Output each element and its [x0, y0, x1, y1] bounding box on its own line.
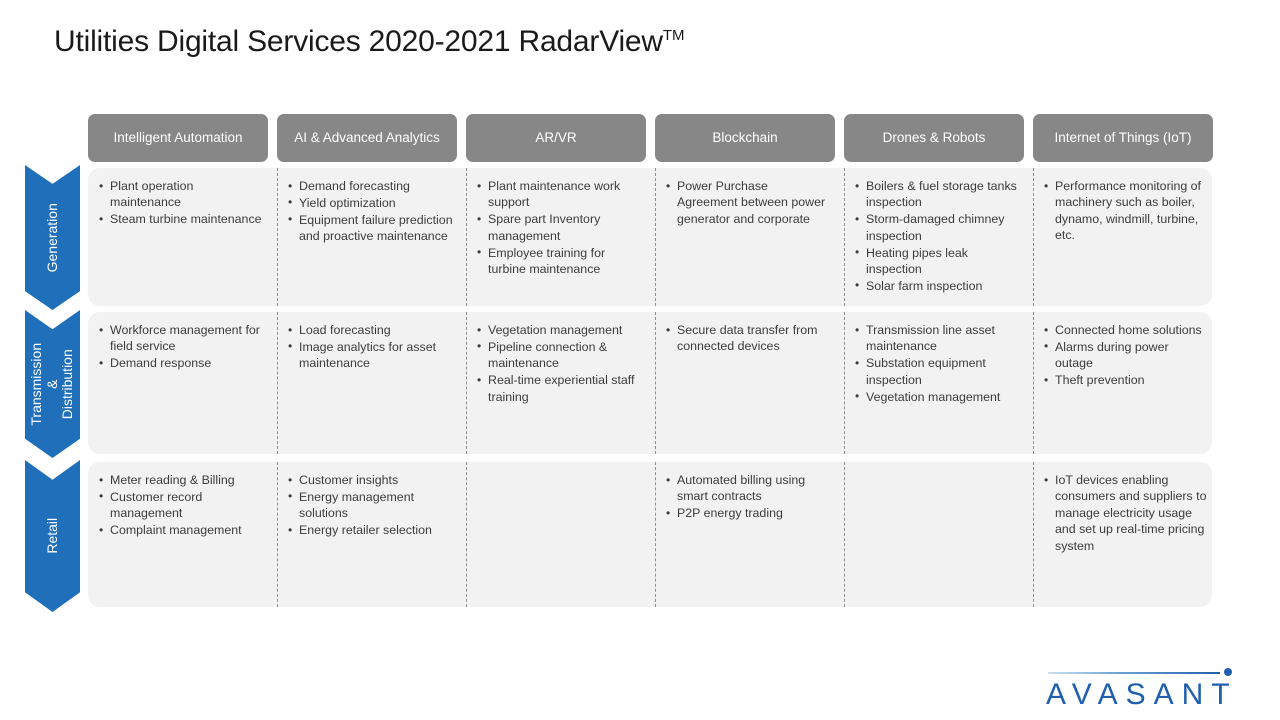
- bullet-list: Workforce management for field serviceDe…: [96, 322, 264, 372]
- logo-line-icon: [1048, 672, 1220, 674]
- list-item: Theft prevention: [1055, 372, 1209, 388]
- list-item: Energy management solutions: [299, 489, 453, 522]
- list-item: Employee training for turbine maintenanc…: [488, 245, 642, 278]
- list-item: P2P energy trading: [677, 505, 831, 521]
- column-header-label: AI & Advanced Analytics: [294, 130, 440, 147]
- list-item: Customer record management: [110, 489, 264, 522]
- list-item: Real-time experiential staff training: [488, 372, 642, 405]
- matrix-cell-r1-c3[interactable]: Plant maintenance work supportSpare part…: [466, 168, 646, 306]
- column-header-label: Drones & Robots: [883, 130, 986, 147]
- column-header-label: Internet of Things (IoT): [1054, 130, 1191, 147]
- list-item: Spare part Inventory management: [488, 211, 642, 244]
- list-item: Yield optimization: [299, 195, 453, 211]
- list-item: Transmission line asset maintenance: [866, 322, 1020, 355]
- row-arrow-label: Generation: [45, 203, 61, 272]
- matrix-cell-r3-c4[interactable]: Automated billing using smart contractsP…: [655, 462, 835, 607]
- matrix-cell-r1-c5[interactable]: Boilers & fuel storage tanks inspectionS…: [844, 168, 1024, 306]
- bullet-list: IoT devices enabling consumers and suppl…: [1041, 472, 1209, 554]
- bullet-list: Performance monitoring of machinery such…: [1041, 178, 1209, 244]
- row-arrow-label: Transmission & Distribution: [29, 343, 76, 426]
- matrix-cell-r1-c4[interactable]: Power Purchase Agreement between power g…: [655, 168, 835, 306]
- list-item: Pipeline connection & maintenance: [488, 339, 642, 372]
- row-panel-3: Meter reading & BillingCustomer record m…: [88, 462, 1212, 607]
- matrix-cell-r2-c4[interactable]: Secure data transfer from connected devi…: [655, 312, 835, 454]
- list-item: Complaint management: [110, 522, 264, 538]
- list-item: Workforce management for field service: [110, 322, 264, 355]
- matrix-cell-r3-c6[interactable]: IoT devices enabling consumers and suppl…: [1033, 462, 1213, 607]
- list-item: Solar farm inspection: [866, 278, 1020, 294]
- list-item: Demand forecasting: [299, 178, 453, 194]
- matrix-cell-r2-c3[interactable]: Vegetation managementPipeline connection…: [466, 312, 646, 454]
- row-panel-1: Plant operation maintenanceSteam turbine…: [88, 168, 1212, 306]
- column-header-1[interactable]: Intelligent Automation: [88, 114, 268, 162]
- list-item: Power Purchase Agreement between power g…: [677, 178, 831, 227]
- list-item: Alarms during power outage: [1055, 339, 1209, 372]
- column-header-label: Intelligent Automation: [113, 130, 242, 147]
- bullet-list: Vegetation managementPipeline connection…: [474, 322, 642, 405]
- bullet-list: Plant operation maintenanceSteam turbine…: [96, 178, 264, 228]
- row-arrow-1[interactable]: Generation: [25, 165, 80, 310]
- bullet-list: Load forecastingImage analytics for asse…: [285, 322, 453, 372]
- logo-text: AVASANT: [1046, 678, 1238, 712]
- column-header-6[interactable]: Internet of Things (IoT): [1033, 114, 1213, 162]
- list-item: Steam turbine maintenance: [110, 211, 264, 227]
- list-item: Vegetation management: [866, 389, 1020, 405]
- bullet-list: Automated billing using smart contractsP…: [663, 472, 831, 522]
- row-arrow-3[interactable]: Retail: [25, 460, 80, 612]
- matrix-cell-r1-c2[interactable]: Demand forecastingYield optimizationEqui…: [277, 168, 457, 306]
- list-item: Boilers & fuel storage tanks inspection: [866, 178, 1020, 211]
- list-item: Connected home solutions: [1055, 322, 1209, 338]
- matrix-cell-r2-c2[interactable]: Load forecastingImage analytics for asse…: [277, 312, 457, 454]
- list-item: Load forecasting: [299, 322, 453, 338]
- list-item: IoT devices enabling consumers and suppl…: [1055, 472, 1209, 554]
- bullet-list: Transmission line asset maintenanceSubst…: [852, 322, 1020, 405]
- matrix-cell-r2-c5[interactable]: Transmission line asset maintenanceSubst…: [844, 312, 1024, 454]
- bullet-list: Demand forecastingYield optimizationEqui…: [285, 178, 453, 245]
- logo-dot-icon: [1224, 668, 1232, 676]
- row-panel-2: Workforce management for field serviceDe…: [88, 312, 1212, 454]
- list-item: Plant operation maintenance: [110, 178, 264, 211]
- list-item: Performance monitoring of machinery such…: [1055, 178, 1209, 244]
- list-item: Secure data transfer from connected devi…: [677, 322, 831, 355]
- matrix-cell-r3-c1[interactable]: Meter reading & BillingCustomer record m…: [88, 462, 268, 607]
- bullet-list: Secure data transfer from connected devi…: [663, 322, 831, 355]
- list-item: Energy retailer selection: [299, 522, 453, 538]
- list-item: Equipment failure prediction and proacti…: [299, 212, 453, 245]
- column-header-label: AR/VR: [535, 130, 576, 147]
- bullet-list: Plant maintenance work supportSpare part…: [474, 178, 642, 277]
- list-item: Plant maintenance work support: [488, 178, 642, 211]
- bullet-list: Meter reading & BillingCustomer record m…: [96, 472, 264, 539]
- column-header-4[interactable]: Blockchain: [655, 114, 835, 162]
- list-item: Demand response: [110, 355, 264, 371]
- bullet-list: Connected home solutionsAlarms during po…: [1041, 322, 1209, 389]
- list-item: Heating pipes leak inspection: [866, 245, 1020, 278]
- row-arrow-label: Retail: [45, 509, 61, 564]
- list-item: Meter reading & Billing: [110, 472, 264, 488]
- list-item: Image analytics for asset maintenance: [299, 339, 453, 372]
- matrix-cell-r1-c1[interactable]: Plant operation maintenanceSteam turbine…: [88, 168, 268, 306]
- matrix-cell-r1-c6[interactable]: Performance monitoring of machinery such…: [1033, 168, 1213, 306]
- matrix-cell-r3-c5[interactable]: [844, 462, 1024, 607]
- column-header-label: Blockchain: [712, 130, 777, 147]
- matrix-cell-r3-c2[interactable]: Customer insightsEnergy management solut…: [277, 462, 457, 607]
- row-arrow-2[interactable]: Transmission & Distribution: [25, 310, 80, 458]
- bullet-list: Power Purchase Agreement between power g…: [663, 178, 831, 227]
- column-header-3[interactable]: AR/VR: [466, 114, 646, 162]
- matrix-cell-r2-c1[interactable]: Workforce management for field serviceDe…: [88, 312, 268, 454]
- list-item: Vegetation management: [488, 322, 642, 338]
- list-item: Substation equipment inspection: [866, 355, 1020, 388]
- matrix-cell-r2-c6[interactable]: Connected home solutionsAlarms during po…: [1033, 312, 1213, 454]
- list-item: Customer insights: [299, 472, 453, 488]
- avasant-logo: AVASANT: [1040, 662, 1240, 710]
- bullet-list: Boilers & fuel storage tanks inspectionS…: [852, 178, 1020, 294]
- capability-matrix: Intelligent AutomationAI & Advanced Anal…: [0, 0, 1280, 720]
- matrix-cell-r3-c3[interactable]: [466, 462, 646, 607]
- column-header-2[interactable]: AI & Advanced Analytics: [277, 114, 457, 162]
- list-item: Automated billing using smart contracts: [677, 472, 831, 505]
- list-item: Storm-damaged chimney inspection: [866, 211, 1020, 244]
- column-header-5[interactable]: Drones & Robots: [844, 114, 1024, 162]
- bullet-list: Customer insightsEnergy management solut…: [285, 472, 453, 539]
